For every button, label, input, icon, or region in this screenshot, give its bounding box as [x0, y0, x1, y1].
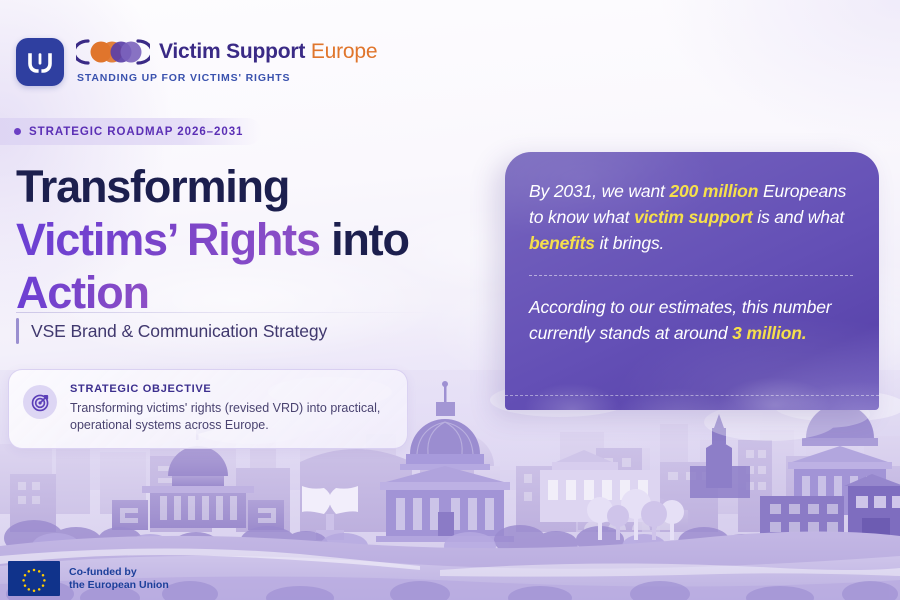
- supporting-hands-icon: [25, 49, 55, 75]
- quote-card-bottom-divider: [505, 395, 879, 396]
- objective-body: Transforming victims' rights (revised VR…: [70, 400, 380, 434]
- brand-name-accent: Europe: [311, 40, 378, 63]
- eu-funding-line-2: the European Union: [69, 579, 169, 592]
- quote-2031-goal: By 2031, we want 200 million Europeans t…: [529, 178, 853, 256]
- subtitle-block: VSE Brand & Communication Strategy: [16, 318, 327, 344]
- strategic-objective-card[interactable]: STRATEGIC OBJECTIVE Transforming victims…: [8, 369, 408, 449]
- target-goal-icon: [23, 385, 57, 419]
- objective-text-block: STRATEGIC OBJECTIVE Transforming victims…: [70, 383, 380, 434]
- quote-segment-highlight: victim support: [634, 207, 752, 227]
- brand-logo-tile[interactable]: [16, 38, 64, 86]
- brand-header[interactable]: Victim Support Europe STANDING UP FOR VI…: [16, 38, 377, 86]
- subtitle-accent-bar: [16, 318, 19, 344]
- brand-tagline: STANDING UP FOR VICTIMS' RIGHTS: [77, 72, 377, 84]
- quote-segment: By 2031, we want: [529, 181, 669, 201]
- objective-title: STRATEGIC OBJECTIVE: [70, 383, 380, 395]
- quote-segment-highlight: 3 million.: [732, 323, 806, 343]
- brand-text-block: Victim Support Europe STANDING UP FOR VI…: [76, 38, 377, 84]
- headline-line-3: Action: [16, 267, 149, 318]
- bullet-dot-icon: [14, 128, 21, 135]
- quote-segment: it brings.: [595, 233, 664, 253]
- page-title: Transforming Victims’ Rights into Action: [16, 160, 516, 319]
- strategic-roadmap-badge[interactable]: STRATEGIC ROADMAP 2026–2031: [0, 118, 261, 145]
- quote-divider: [529, 275, 853, 276]
- subtitle-text: VSE Brand & Communication Strategy: [31, 321, 327, 342]
- eu-stars: [14, 565, 54, 593]
- quote-card-content: By 2031, we want 200 million Europeans t…: [505, 152, 879, 346]
- brand-name: Victim Support Europe: [159, 40, 377, 64]
- poster-canvas: Victim Support Europe STANDING UP FOR VI…: [0, 0, 900, 600]
- roadmap-badge-wrapper: STRATEGIC ROADMAP 2026–2031: [0, 118, 261, 145]
- eu-flag-icon: [8, 561, 60, 596]
- eu-funding-line-1: Co-funded by: [69, 566, 169, 579]
- quote-current-estimate: According to our estimates, this number …: [529, 294, 853, 346]
- vse-circles-logo: [76, 39, 150, 65]
- objective-body-line-1: Transforming victims' rights (revised VR…: [70, 401, 380, 415]
- quote-segment-highlight: 200 million: [669, 181, 758, 201]
- headline-line-1: Transforming: [16, 161, 289, 212]
- goal-quote-card: By 2031, we want 200 million Europeans t…: [505, 152, 879, 410]
- headline-line-2-rest: into: [331, 214, 409, 265]
- eu-funding-text: Co-funded by the European Union: [69, 566, 169, 592]
- quote-segment-highlight: benefits: [529, 233, 595, 253]
- objective-body-line-2: operational systems across Europe.: [70, 418, 269, 432]
- roadmap-label: STRATEGIC ROADMAP 2026–2031: [29, 126, 243, 138]
- quote-segment: is and what: [753, 207, 845, 227]
- headline-line-2-emphasis: Victims’ Rights: [16, 214, 320, 265]
- brand-name-main: Victim Support: [159, 40, 305, 63]
- subtitle-divider: [16, 312, 434, 313]
- eu-funding-badge: Co-funded by the European Union: [8, 561, 169, 596]
